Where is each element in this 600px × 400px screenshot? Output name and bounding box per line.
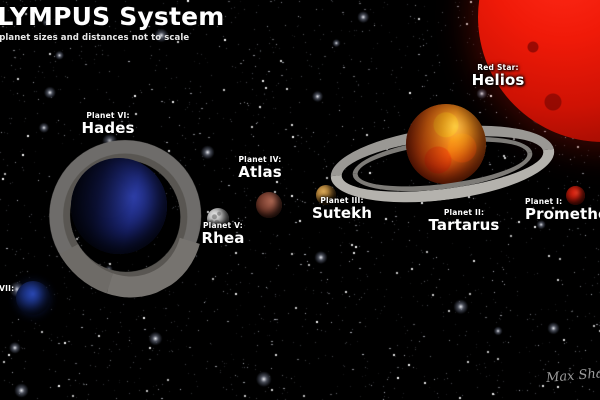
label-atlas-ordinal: Planet IV: [200,156,320,164]
hades-ring-front-arc [19,107,231,325]
artist-signature: Max Sham [545,365,600,386]
body-atlas[interactable] [256,192,282,218]
label-atlas-name: Atlas [200,164,320,181]
body-hades-system[interactable] [45,128,205,303]
page-subtitle: and planet sizes and distances not to sc… [0,33,225,43]
body-rhea[interactable] [207,208,229,230]
rhea-craters [207,208,229,230]
title-block: OLYMPUS System and planet sizes and dist… [0,2,225,43]
label-atlas: Planet IV: Atlas [200,156,320,181]
body-prometheus[interactable] [566,186,585,205]
body-nyx[interactable] [16,281,50,315]
space-scene: OLYMPUS System and planet sizes and dist… [0,0,600,400]
body-tartarus-system[interactable] [330,104,555,214]
label-tartarus-name: Tartarus [404,217,524,234]
page-title: OLYMPUS System [0,2,225,31]
body-sutekh[interactable] [316,185,336,205]
